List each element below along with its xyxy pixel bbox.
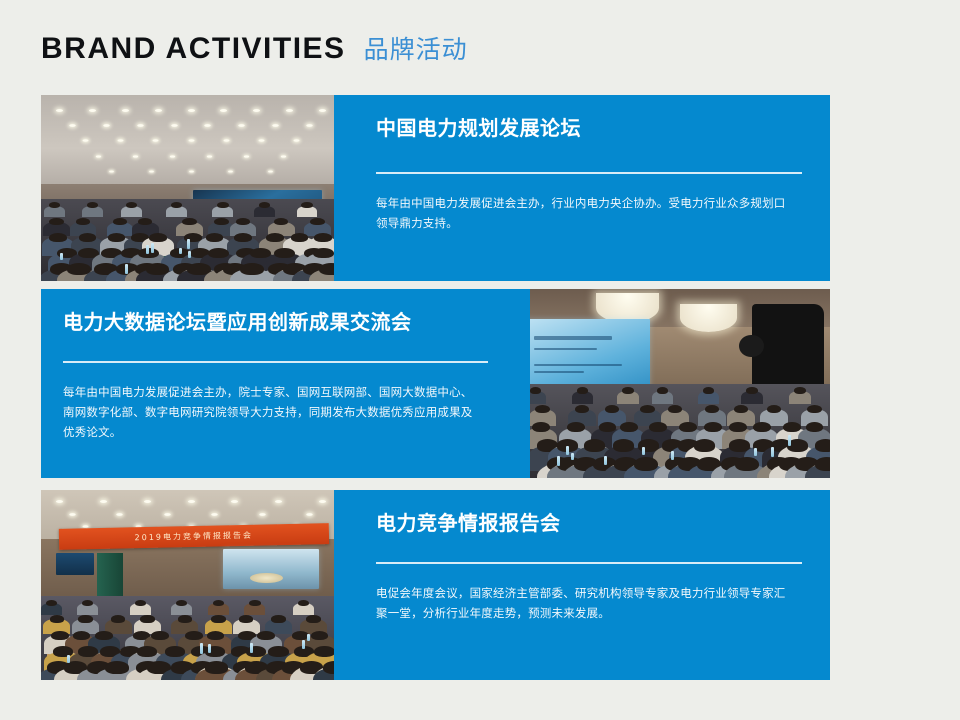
audience-member-head — [783, 422, 801, 432]
ceiling-downlight — [268, 171, 273, 173]
ceiling — [41, 95, 334, 192]
ceiling-downlight — [259, 513, 265, 516]
audience-member-head — [249, 600, 260, 606]
audience-member-head — [95, 631, 112, 640]
audience-member-head — [704, 422, 722, 432]
audience-member-head — [206, 233, 223, 242]
ceiling-downlight — [149, 171, 154, 173]
card-description: 每年由中国电力发展促进会主办，行业内电力央企协办。受电力行业众多规划口领导鼎力支… — [376, 194, 796, 234]
video-camera — [752, 304, 824, 391]
audience-member-head — [53, 646, 74, 657]
water-bottle — [67, 655, 70, 663]
audience-member-head — [49, 218, 63, 225]
ceiling-downlight — [69, 513, 75, 516]
water-bottle — [566, 446, 569, 456]
audience-member-head — [622, 387, 634, 394]
ceiling-downlight — [223, 140, 229, 143]
card-body: 电力大数据论坛暨应用创新成果交流会 每年由中国电力发展促进会主办，院士专家、国网… — [41, 289, 530, 478]
audience-member-head — [694, 439, 715, 451]
water-bottle — [188, 251, 191, 258]
audience-member-head — [78, 615, 92, 623]
ceiling-downlight — [188, 500, 195, 503]
audience-member-head — [567, 422, 585, 432]
audience-member-head — [314, 233, 331, 242]
audience-member-head — [207, 631, 224, 640]
ceiling-downlight — [207, 155, 212, 157]
water-bottle — [642, 447, 645, 455]
page-title-chinese: 品牌活动 — [364, 30, 468, 66]
audience-member-head — [679, 422, 697, 432]
audience-member-head — [82, 600, 93, 606]
audience-member-head — [234, 233, 251, 242]
audience-member-head — [703, 387, 715, 394]
ceiling-downlight — [188, 140, 194, 143]
audience-member-head — [165, 646, 186, 657]
audience-member-head — [257, 631, 274, 640]
audience-member-head — [274, 248, 295, 259]
audience-member-head — [535, 405, 550, 414]
audience-member-head — [113, 218, 127, 225]
audience-member-head — [49, 233, 66, 242]
water-bottle — [604, 456, 607, 465]
water-bottle — [60, 253, 63, 260]
ceiling-downlight — [144, 500, 151, 503]
audience-member-head — [319, 263, 334, 275]
audience-member-head — [668, 405, 683, 414]
audience-member-head — [530, 387, 541, 394]
ceiling-downlight — [275, 500, 282, 503]
side-monitor — [56, 553, 94, 576]
ceiling-downlight — [89, 109, 96, 112]
audience-member-head — [753, 422, 771, 432]
water-bottle — [571, 453, 574, 460]
audience-member-head — [49, 202, 60, 208]
audience-member-head — [239, 615, 253, 623]
audience-member-head — [137, 646, 158, 657]
audience-member-head — [649, 422, 667, 432]
audience-member-head — [735, 457, 759, 471]
audience-member-head — [311, 631, 328, 640]
ceiling-downlight — [170, 155, 175, 157]
ceiling-downlight — [220, 109, 227, 112]
audience-member-head — [271, 615, 285, 623]
ceiling-downlight — [244, 155, 249, 157]
audience-member-head — [214, 218, 228, 225]
ceiling-downlight — [294, 140, 300, 143]
audience-member-head — [301, 202, 312, 208]
water-bottle — [754, 448, 757, 457]
ceiling-downlight — [69, 124, 75, 127]
ceiling-downlight — [83, 140, 89, 143]
audience-member-head — [46, 600, 57, 606]
ceiling-downlight — [188, 109, 195, 112]
water-bottle — [557, 456, 560, 467]
audience-member-head — [584, 439, 605, 451]
ceiling-downlight — [137, 124, 143, 127]
ceiling-downlight — [306, 124, 312, 127]
ceiling-downlight — [306, 513, 312, 516]
audience-member-head — [73, 631, 90, 640]
audience — [41, 596, 334, 680]
title-divider — [63, 361, 488, 363]
audience-member-head — [176, 600, 187, 606]
ceiling-downlight — [253, 109, 260, 112]
ceiling-downlight — [122, 109, 129, 112]
water-bottle — [307, 634, 310, 641]
water-bottle — [146, 245, 149, 254]
audience-member-head — [250, 248, 271, 259]
audience-member-head — [620, 422, 638, 432]
ceiling-downlight — [109, 171, 114, 173]
water-bottle — [151, 243, 154, 252]
audience-member-head — [266, 233, 283, 242]
ceiling-downlight — [103, 124, 109, 127]
ceiling-downlight — [155, 109, 162, 112]
water-bottle — [208, 644, 211, 653]
audience-member-head — [50, 615, 64, 623]
water-bottle — [200, 643, 203, 654]
water-bottle — [671, 451, 674, 460]
ceiling-downlight — [96, 155, 101, 157]
audience-member-head — [323, 661, 334, 673]
audience-member-head — [205, 661, 229, 673]
water-bottle — [788, 435, 791, 446]
audience-member-head — [178, 615, 192, 623]
audience-member-head — [767, 405, 782, 414]
audience-member-head — [815, 457, 830, 471]
audience-member-head — [213, 600, 224, 606]
competition-report-photo: 2019电力竞争情报报告会 — [41, 490, 334, 680]
activity-card: 中国电力规划发展论坛 每年由中国电力发展促进会主办，行业内电力央企协办。受电力行… — [41, 95, 830, 281]
audience-member-head — [310, 218, 324, 225]
big-data-forum-photo — [530, 289, 830, 478]
audience-member-head — [79, 233, 96, 242]
ceiling-downlight — [171, 124, 177, 127]
audience-member-head — [815, 439, 830, 451]
audience-member-head — [313, 248, 334, 259]
audience-member-head — [291, 233, 308, 242]
title-divider — [376, 172, 802, 174]
ceiling-downlight — [100, 500, 107, 503]
activity-card: 电力大数据论坛暨应用创新成果交流会 每年由中国电力发展促进会主办，院士专家、国网… — [41, 289, 830, 478]
audience-member-head — [657, 387, 669, 394]
audience-member-head — [575, 405, 590, 414]
audience-member-head — [211, 615, 225, 623]
audience-member-head — [605, 405, 620, 414]
audience-member-head — [746, 387, 758, 394]
page-title-english: BRAND ACTIVITIES — [41, 32, 346, 66]
card-title: 中国电力规划发展论坛 — [376, 117, 802, 141]
ceiling-downlight — [56, 109, 63, 112]
audience-member-head — [794, 387, 806, 394]
audience-member-head — [268, 646, 289, 657]
audience-member-head — [76, 218, 90, 225]
ceiling-downlight — [211, 513, 217, 516]
ceiling-downlight — [286, 109, 293, 112]
audience-member-head — [151, 631, 168, 640]
card-description: 电促会年度会议，国家经济主管部委、研究机构领导专家及电力行业领导专家汇聚一堂，分… — [376, 584, 796, 624]
water-bottle — [179, 248, 182, 254]
ceiling-downlight — [273, 124, 279, 127]
audience-member-head — [108, 233, 125, 242]
audience-member-head — [138, 218, 152, 225]
audience-member-head — [807, 405, 822, 414]
ceiling-downlight — [205, 124, 211, 127]
audience-member-head — [274, 218, 288, 225]
audience — [41, 199, 334, 281]
stage-curtain — [97, 553, 123, 602]
card-description: 每年由中国电力发展促进会主办，院士专家、国网互联网部、国网大数据中心、南网数字化… — [63, 383, 483, 443]
ceiling-downlight — [117, 513, 123, 516]
ceiling-downlight — [239, 124, 245, 127]
audience-member-head — [111, 615, 125, 623]
ceiling-downlight — [133, 155, 138, 157]
card-title: 电力大数据论坛暨应用创新成果交流会 — [63, 311, 488, 335]
audience-member-head — [217, 202, 228, 208]
ceiling-downlight — [319, 500, 326, 503]
ceiling-downlight — [319, 109, 326, 112]
audience-member-head — [182, 218, 196, 225]
audience-member-head — [734, 405, 749, 414]
audience-member-head — [640, 405, 655, 414]
audience-member-head — [634, 457, 658, 471]
ceiling-downlight — [164, 513, 170, 516]
ceiling-downlight — [118, 140, 124, 143]
audience-member-head — [577, 387, 589, 394]
audience-member-head — [138, 248, 159, 259]
water-bottle — [250, 643, 253, 653]
audience-member-head — [135, 600, 146, 606]
ceiling-downlight — [153, 140, 159, 143]
audience-member-head — [532, 422, 550, 432]
water-bottle — [187, 239, 190, 249]
audience — [530, 384, 830, 479]
card-body: 中国电力规划发展论坛 每年由中国电力发展促进会主办，行业内电力央企协办。受电力行… — [334, 95, 830, 281]
ceiling-downlight — [281, 155, 286, 157]
audience-member-head — [149, 233, 166, 242]
presentation-screen — [530, 319, 650, 391]
audience-member-head — [140, 615, 154, 623]
audience-member-head — [298, 600, 309, 606]
presentation-screen — [223, 549, 320, 589]
ceiling-downlight — [231, 500, 238, 503]
audience-member-head — [705, 405, 720, 414]
audience-member-head — [236, 218, 250, 225]
audience-member-head — [208, 248, 229, 259]
water-bottle — [771, 447, 774, 457]
conference-hall-photo — [41, 95, 334, 281]
audience-member-head — [306, 615, 320, 623]
ceiling-downlight — [228, 171, 233, 173]
card-body: 电力竞争情报报告会 电促会年度会议，国家经济主管部委、研究机构领导专家及电力行业… — [334, 490, 830, 680]
water-bottle — [302, 640, 305, 649]
audience-member-head — [259, 202, 270, 208]
ceiling-downlight — [258, 140, 264, 143]
title-divider — [376, 562, 802, 564]
ceiling-downlight — [56, 500, 63, 503]
activity-card: 2019电力竞争情报报告会 电力竞争情报报告会 电促会年度会议，国家经济主管部委… — [41, 490, 830, 680]
ceiling-downlight — [189, 171, 194, 173]
page-title: BRAND ACTIVITIES 品牌活动 — [41, 30, 468, 66]
audience-member-head — [105, 661, 129, 673]
card-title: 电力竞争情报报告会 — [376, 512, 802, 536]
audience-member-head — [314, 646, 334, 657]
